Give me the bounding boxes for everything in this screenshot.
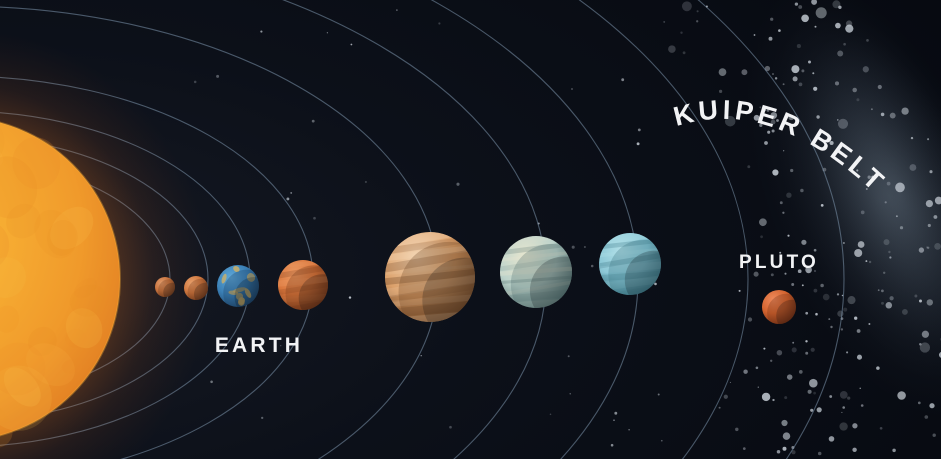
pluto-label: PLUTO xyxy=(739,252,819,273)
diagram-canvas: KUIPER BELT EARTH PLUTO xyxy=(0,0,941,459)
solar-system-diagram: KUIPER BELT EARTH PLUTO xyxy=(0,0,941,459)
earth-label: EARTH xyxy=(215,334,303,357)
